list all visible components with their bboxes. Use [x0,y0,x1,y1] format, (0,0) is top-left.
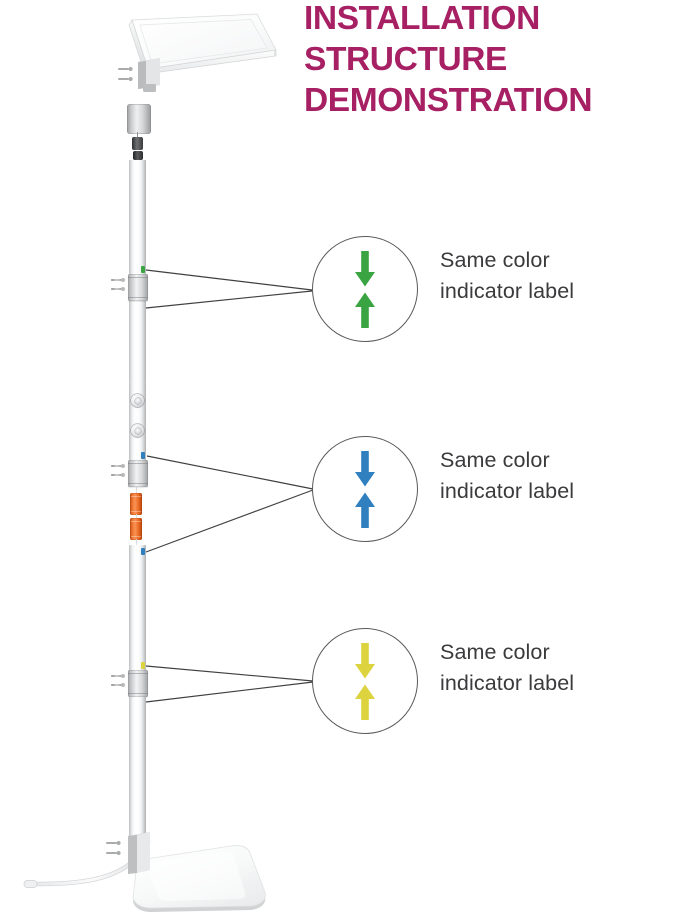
rotary-dial-lower-top[interactable] [131,424,144,437]
head-mount-bracket [127,104,151,134]
callout-green: Same color indicator label [312,236,657,346]
pole-segment-1 [129,160,146,274]
page-title-line-2: STRUCTURE [304,39,679,80]
arrow-pair-green [312,236,418,342]
callout-label-yellow-line-2: indicator label [440,668,655,699]
arrow-up-icon [354,492,376,528]
lamp-base [20,780,270,915]
lower-joint-screws [111,674,124,693]
page-title: INSTALLATION STRUCTURE DEMONSTRATION [304,0,679,121]
middle-joint-screws [111,464,124,483]
callout-label-blue-line-2: indicator label [440,476,655,507]
callout-yellow: Same color indicator label [312,628,657,738]
callout-label-blue-line-1: Same color [440,445,655,476]
callout-label-yellow-line-1: Same color [440,637,655,668]
page-title-line-3: DEMONSTRATION [304,80,679,121]
head-cable-plug [132,137,143,150]
lamp-head [88,12,278,98]
pole-shading-2 [129,302,146,382]
lamp-pole-assembly [129,108,146,856]
upper-joint-screws [111,278,124,297]
arrow-pair-yellow [312,628,418,734]
indicator-blue-upper [141,452,145,459]
arrow-up-icon [354,684,376,720]
pole-shading-3 [129,545,146,667]
arrow-down-icon [354,451,376,487]
pole-segment-2 [129,302,146,382]
callout-label-blue: Same color indicator label [440,445,655,507]
arrow-pair-blue [312,436,418,542]
lower-pole-joint-collar [128,670,148,697]
rotary-dial-upper-top[interactable] [131,394,144,407]
page-title-line-1: INSTALLATION [304,0,679,39]
orange-connector-2 [130,518,142,540]
arrow-up-icon [354,292,376,328]
pole-segment-3 [129,545,146,667]
infographic-canvas: INSTALLATION STRUCTURE DEMONSTRATION [0,0,679,918]
pole-shading-1 [129,160,146,274]
callout-label-green-line-2: indicator label [440,276,655,307]
upper-pole-joint-collar [128,274,148,301]
orange-connector-1 [130,493,142,515]
callout-label-green: Same color indicator label [440,245,655,307]
indicator-blue-lower [141,548,145,555]
indicator-yellow-upper [141,662,145,669]
callout-blue: Same color indicator label [312,436,657,546]
callout-label-yellow: Same color indicator label [440,637,655,699]
callout-label-green-line-1: Same color [440,245,655,276]
indicator-green-upper [141,266,145,273]
arrow-down-icon [354,251,376,287]
head-cable-socket [133,151,143,160]
middle-pole-joint-collar [128,460,148,487]
arrow-down-icon [354,643,376,679]
